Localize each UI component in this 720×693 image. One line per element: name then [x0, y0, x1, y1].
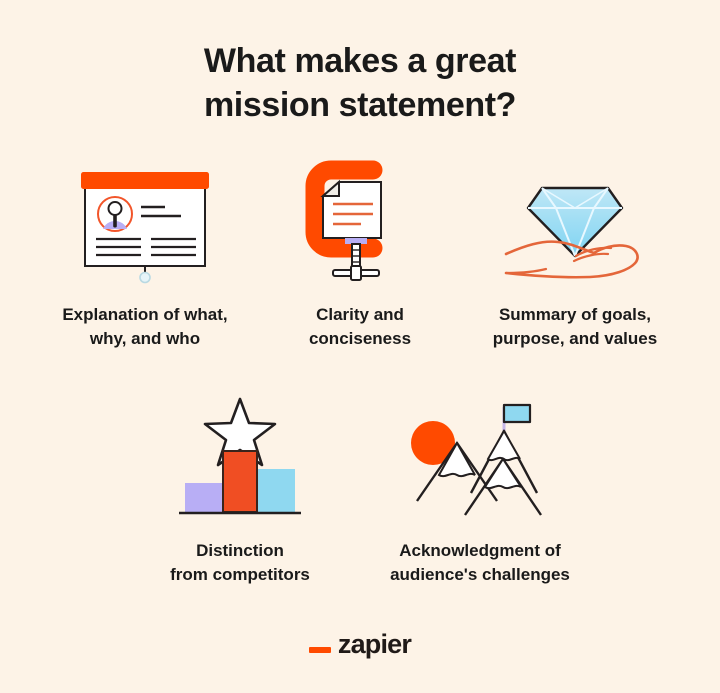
mountains-flag-icon — [385, 393, 575, 521]
caption-line-1: Summary of goals, — [493, 303, 657, 327]
clamp-document-svg — [295, 160, 425, 285]
page-title-line-1: What makes a great — [0, 40, 720, 84]
caption-line-1: Acknowledgment of — [390, 539, 570, 563]
caption-line-1: Clarity and — [309, 303, 411, 327]
card-row-bottom: Distinction from competitors — [0, 393, 720, 587]
card-caption: Acknowledgment of audience's challenges — [390, 539, 570, 587]
caption-line-2: from competitors — [170, 563, 310, 587]
zapier-dash-mark-icon — [309, 647, 331, 653]
zapier-logo[interactable]: zapier — [0, 629, 720, 660]
infographic-canvas: What makes a great mission statement? — [0, 0, 720, 693]
card-summary: Summary of goals, purpose, and values — [468, 160, 683, 351]
clamp-document-icon — [295, 160, 425, 285]
mountains-flag-svg — [385, 393, 575, 521]
card-caption: Explanation of what, why, and who — [62, 303, 227, 351]
card-distinction: Distinction from competitors — [120, 393, 360, 587]
card-caption: Summary of goals, purpose, and values — [493, 303, 657, 351]
card-acknowledgment: Acknowledgment of audience's challenges — [360, 393, 600, 587]
presentation-board-svg — [65, 160, 225, 285]
bar-chart-star-svg — [165, 393, 315, 521]
presentation-board-icon — [65, 160, 225, 285]
card-clarity: Clarity and conciseness — [253, 160, 468, 351]
caption-line-1: Distinction — [170, 539, 310, 563]
zapier-logo-text: zapier — [338, 629, 411, 660]
page-title-line-2: mission statement? — [0, 84, 720, 128]
card-caption: Distinction from competitors — [170, 539, 310, 587]
caption-line-1: Explanation of what, — [62, 303, 227, 327]
diamond-in-hand-icon — [490, 160, 660, 285]
caption-line-2: purpose, and values — [493, 327, 657, 351]
card-caption: Clarity and conciseness — [309, 303, 411, 351]
card-explanation: Explanation of what, why, and who — [38, 160, 253, 351]
diamond-in-hand-svg — [490, 160, 660, 285]
caption-line-2: audience's challenges — [390, 563, 570, 587]
caption-line-2: why, and who — [62, 327, 227, 351]
caption-line-2: conciseness — [309, 327, 411, 351]
bar-chart-star-icon — [165, 393, 315, 521]
page-title: What makes a great mission statement? — [0, 40, 720, 127]
card-row-top: Explanation of what, why, and who — [0, 160, 720, 351]
